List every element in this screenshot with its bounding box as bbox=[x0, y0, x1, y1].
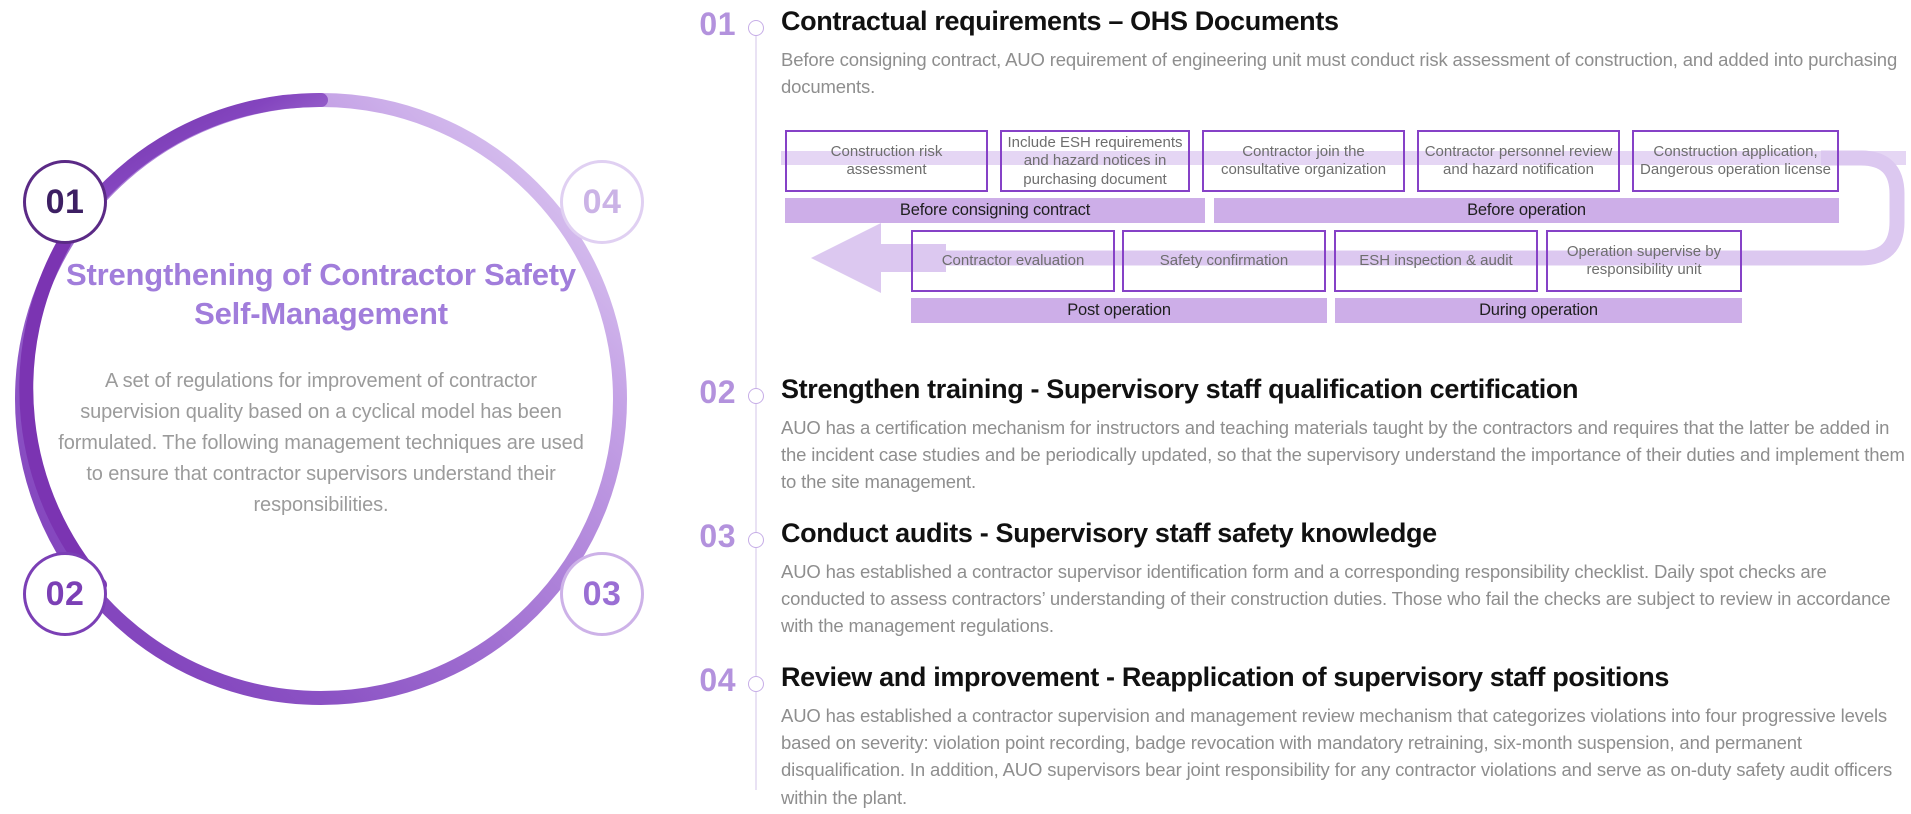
flow-top-bar-1: Before consigning contract bbox=[785, 198, 1205, 223]
section-04-dot-icon bbox=[748, 676, 764, 692]
flow-top-bar-2: Before operation bbox=[1214, 198, 1839, 223]
timeline-panel: 01 Contractual requirements – OHS Docume… bbox=[680, 0, 1911, 814]
section-03-body: Conduct audits - Supervisory staff safet… bbox=[781, 518, 1906, 640]
flow-bottom-bar-2: During operation bbox=[1335, 298, 1742, 323]
section-02-dot-icon bbox=[748, 388, 764, 404]
section-04-body: Review and improvement - Reapplication o… bbox=[781, 662, 1906, 811]
flow-bottom-box-4[interactable]: Operation supervise by responsibility un… bbox=[1546, 230, 1742, 292]
cycle-description: A set of regulations for improvement of … bbox=[56, 366, 586, 522]
section-01-body: Contractual requirements – OHS Documents… bbox=[781, 6, 1906, 327]
cycle-node-03-label: 03 bbox=[583, 575, 622, 614]
cycle-node-02[interactable]: 02 bbox=[23, 552, 107, 636]
section-03-dot-icon bbox=[748, 532, 764, 548]
section-04-title: Review and improvement - Reapplication o… bbox=[781, 662, 1906, 693]
cycle-node-01[interactable]: 01 bbox=[23, 160, 107, 244]
cycle-node-04[interactable]: 04 bbox=[560, 160, 644, 244]
section-02-title: Strengthen training - Supervisory staff … bbox=[781, 374, 1906, 405]
cycle-center-content: Strengthening of Contractor Safety Self-… bbox=[56, 255, 586, 522]
section-02-number: 02 bbox=[680, 374, 736, 411]
flow-bottom-bar-1: Post operation bbox=[911, 298, 1327, 323]
section-03-title: Conduct audits - Supervisory staff safet… bbox=[781, 518, 1906, 549]
flow-top-box-1[interactable]: Construction risk assessment bbox=[785, 130, 988, 192]
section-01-dot-icon bbox=[748, 20, 764, 36]
ohs-process-flowchart: Construction risk assessment Include ESH… bbox=[781, 122, 1906, 327]
section-01-number: 01 bbox=[680, 6, 736, 43]
cycle-node-04-label: 04 bbox=[583, 183, 622, 222]
flow-bottom-box-2[interactable]: Safety confirmation bbox=[1122, 230, 1326, 292]
flow-top-box-5[interactable]: Construction application, Dangerous oper… bbox=[1632, 130, 1839, 192]
infographic-root: 01 02 03 04 Strengthening of Contractor … bbox=[0, 0, 1911, 814]
section-01-title: Contractual requirements – OHS Documents bbox=[781, 6, 1906, 37]
section-04-number: 04 bbox=[680, 662, 736, 699]
section-02-body: Strengthen training - Supervisory staff … bbox=[781, 374, 1906, 496]
cycle-node-01-label: 01 bbox=[46, 183, 85, 222]
cycle-title: Strengthening of Contractor Safety Self-… bbox=[56, 255, 586, 334]
section-01-text: Before consigning contract, AUO requirem… bbox=[781, 46, 1906, 100]
cycle-node-03[interactable]: 03 bbox=[560, 552, 644, 636]
cycle-diagram-panel: 01 02 03 04 Strengthening of Contractor … bbox=[0, 0, 720, 814]
flow-bottom-box-3[interactable]: ESH inspection & audit bbox=[1334, 230, 1538, 292]
flow-top-box-2[interactable]: Include ESH requirements and hazard noti… bbox=[1000, 130, 1190, 192]
flow-top-box-4[interactable]: Contractor personnel review and hazard n… bbox=[1417, 130, 1620, 192]
section-02-text: AUO has a certification mechanism for in… bbox=[781, 414, 1906, 496]
section-03-number: 03 bbox=[680, 518, 736, 555]
section-03-text: AUO has established a contractor supervi… bbox=[781, 558, 1906, 640]
section-04-text: AUO has established a contractor supervi… bbox=[781, 702, 1906, 811]
flow-top-box-3[interactable]: Contractor join the consultative organiz… bbox=[1202, 130, 1405, 192]
flow-bottom-box-1[interactable]: Contractor evaluation bbox=[911, 230, 1115, 292]
cycle-node-02-label: 02 bbox=[46, 575, 85, 614]
